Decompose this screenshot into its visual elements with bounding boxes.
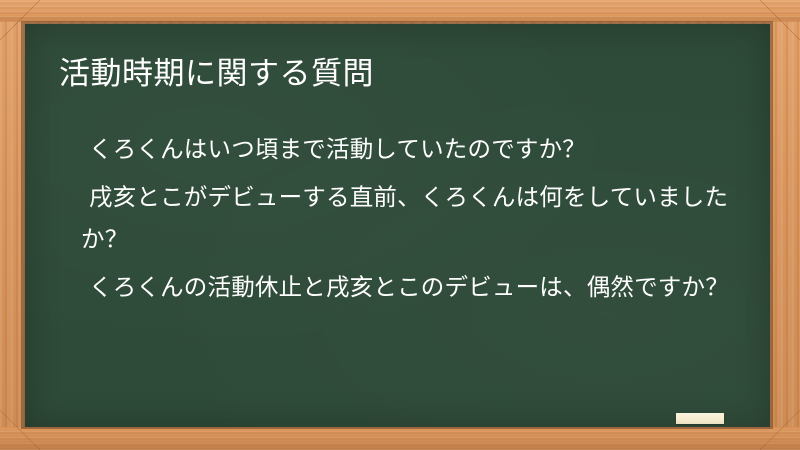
frame-rail-bottom — [0, 427, 800, 450]
page-title: 活動時期に関する質問 — [59, 54, 759, 94]
chalkboard-surface: 活動時期に関する質問 くろくんはいつ頃まで活動していたのですか？ 戌亥とこがデビ… — [25, 24, 770, 427]
chalk-stick — [676, 413, 724, 424]
list-item: くろくんの活動休止と戌亥とこのデビューは、偶然ですか？ — [81, 266, 771, 308]
list-item: 戌亥とこがデビューする直前、くろくんは何をしていましたか？ — [81, 176, 771, 260]
frame-rail-top — [0, 0, 800, 22]
chalkboard-slide: 活動時期に関する質問 くろくんはいつ頃まで活動していたのですか？ 戌亥とこがデビ… — [0, 0, 800, 450]
question-list: くろくんはいつ頃まで活動していたのですか？ 戌亥とこがデビューする直前、くろくん… — [81, 128, 771, 314]
list-item: くろくんはいつ頃まで活動していたのですか？ — [81, 128, 771, 170]
